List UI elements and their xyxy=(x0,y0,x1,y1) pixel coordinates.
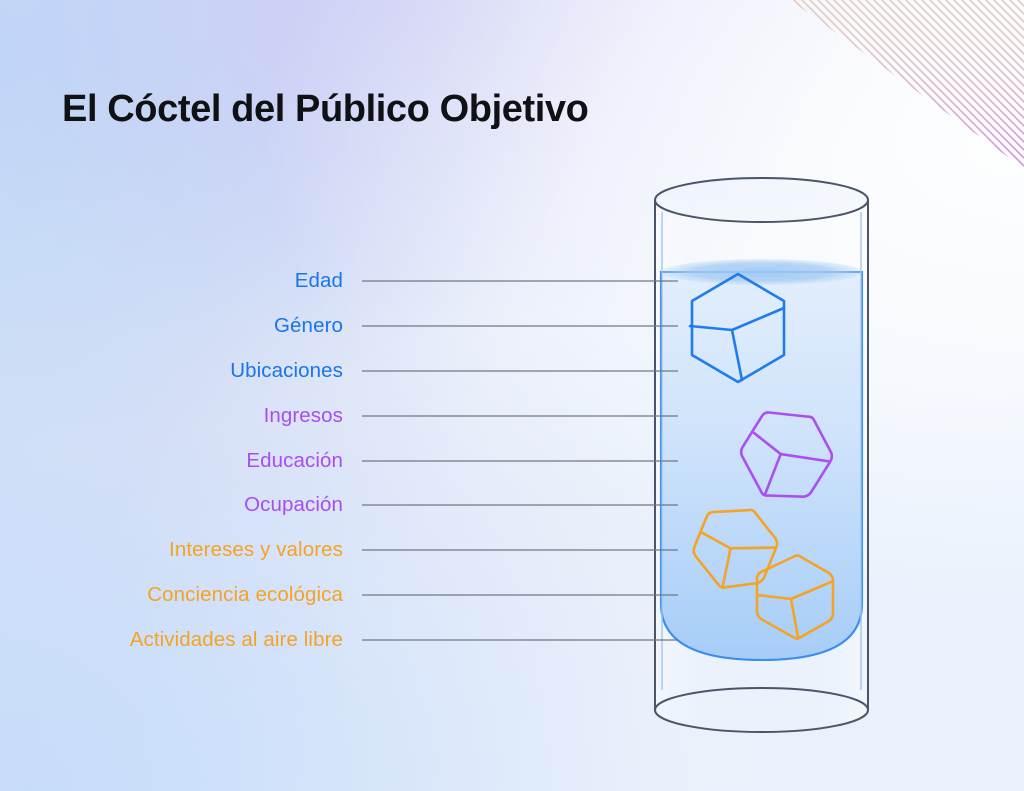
label-row-psychographics[interactable]: Intereses y valores xyxy=(0,537,343,563)
attribute-label: Género xyxy=(274,314,343,338)
attribute-label: Ocupación xyxy=(244,493,343,517)
connector-lines xyxy=(362,281,678,640)
attribute-label: Intereses y valores xyxy=(169,538,343,562)
label-row-socioeconomic[interactable]: Ingresos xyxy=(0,403,343,429)
attribute-label: Ingresos xyxy=(264,404,343,428)
label-row-demographics[interactable]: Edad xyxy=(0,268,343,294)
infographic-canvas: El Cóctel del Público Objetivo xyxy=(0,0,1024,791)
label-row-psychographics[interactable]: Conciencia ecológica xyxy=(0,582,343,608)
glass-vessel xyxy=(655,178,868,732)
label-row-socioeconomic[interactable]: Ocupación xyxy=(0,492,343,518)
cocktail-glass-diagram xyxy=(0,0,1024,791)
glass-rim xyxy=(655,178,868,222)
attribute-label: Ubicaciones xyxy=(230,359,343,383)
liquid-surface xyxy=(662,259,862,285)
attribute-label: Conciencia ecológica xyxy=(147,583,343,607)
attribute-label: Educación xyxy=(246,449,343,473)
attribute-label: Edad xyxy=(295,269,343,293)
label-row-socioeconomic[interactable]: Educación xyxy=(0,448,343,474)
label-row-demographics[interactable]: Género xyxy=(0,313,343,339)
label-row-psychographics[interactable]: Actividades al aire libre xyxy=(0,627,343,653)
label-row-demographics[interactable]: Ubicaciones xyxy=(0,358,343,384)
attribute-label: Actividades al aire libre xyxy=(130,628,343,652)
